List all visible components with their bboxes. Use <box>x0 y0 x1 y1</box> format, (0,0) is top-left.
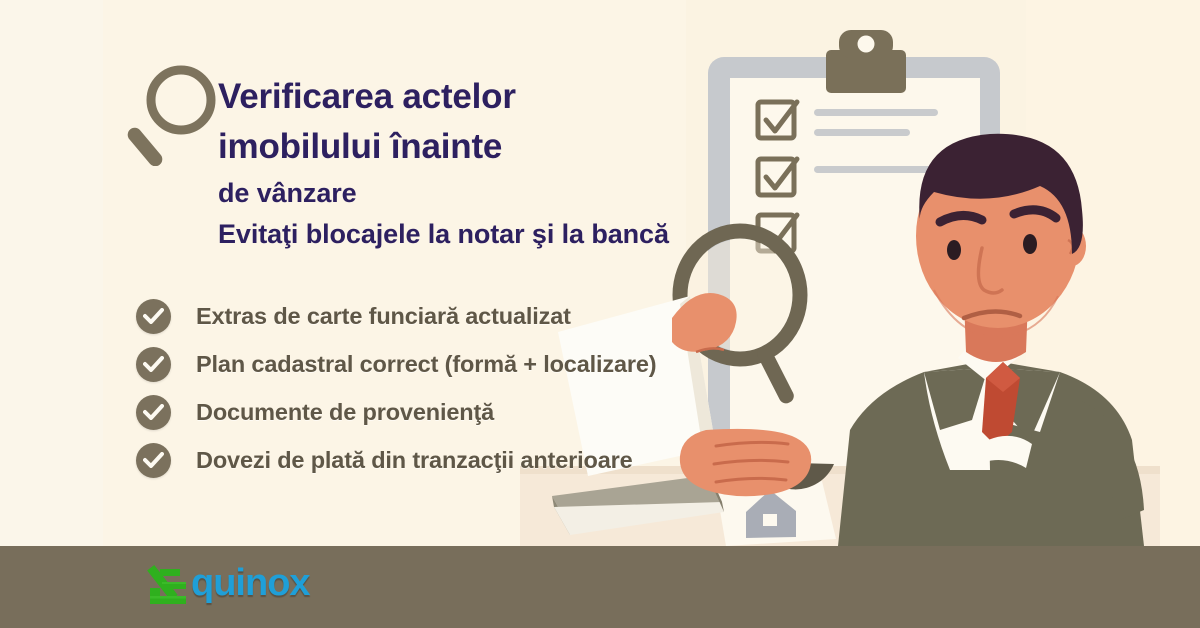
clipboard-text-line <box>814 109 938 116</box>
equinox-e-mark-icon <box>146 558 194 608</box>
check-circle-icon <box>136 395 171 430</box>
clipboard-text-line <box>814 129 910 136</box>
check-circle-icon <box>136 347 171 382</box>
subtitle-line-1: de vânzare <box>218 172 758 214</box>
checklist-item: Plan cadastral correct (formă + localiza… <box>136 340 736 388</box>
equinox-logo[interactable]: quinox <box>146 558 310 608</box>
checklist-item: Extras de carte funciară actualizat <box>136 292 736 340</box>
checklist-item: Documente de provenienţă <box>136 388 736 436</box>
magnifying-glass-icon <box>125 62 221 166</box>
checklist-item: Dovezi de plată din tranzacţii anterioar… <box>136 436 736 484</box>
checklist-item-label: Extras de carte funciară actualizat <box>196 303 571 330</box>
headline-text: Verificarea actelor imobilului înainte d… <box>218 72 758 254</box>
background-left-strip <box>0 0 103 546</box>
clipboard-text-line <box>814 166 938 173</box>
checklist-item-label: Plan cadastral correct (formă + localiza… <box>196 351 657 378</box>
poster-canvas: Verificarea actelor imobilului înainte d… <box>0 0 1200 628</box>
checklist-item-label: Documente de provenienţă <box>196 399 494 426</box>
title-line-2: imobilului înainte <box>218 122 758 172</box>
checklist: Extras de carte funciară actualizat Plan… <box>136 292 736 484</box>
check-circle-icon <box>136 443 171 478</box>
title-line-1: Verificarea actelor <box>218 72 758 122</box>
check-circle-icon <box>136 299 171 334</box>
equinox-logo-text: quinox <box>191 564 310 602</box>
checklist-item-label: Dovezi de plată din tranzacţii anterioar… <box>196 447 633 474</box>
subtitle-line-2: Evitaţi blocajele la notar şi la bancă <box>218 214 758 254</box>
